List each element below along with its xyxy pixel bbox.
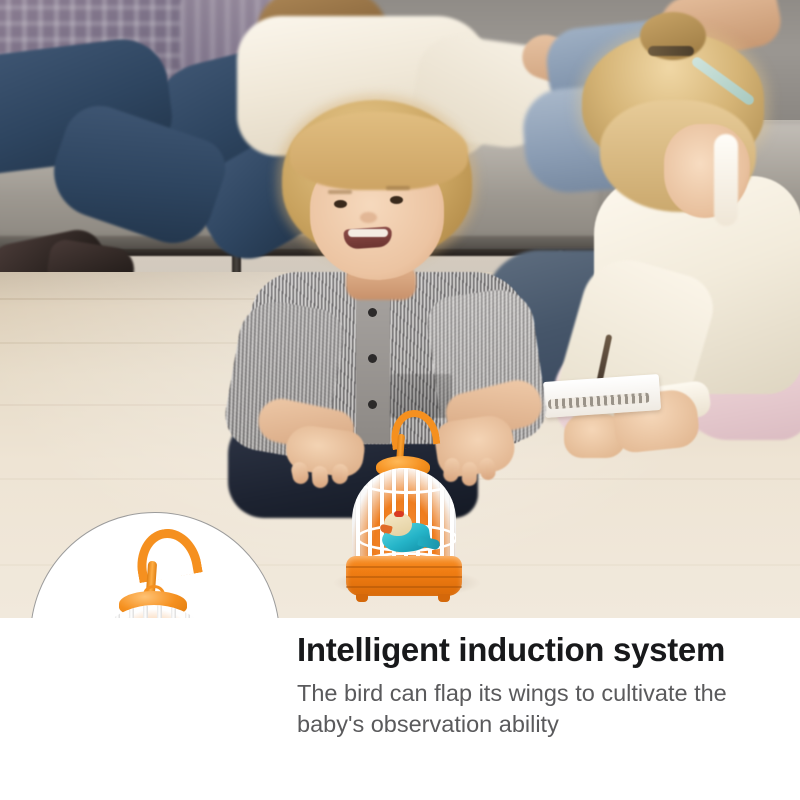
boy-teeth (348, 229, 388, 237)
callout-subtitle: The bird can flap its wings to cultivate… (297, 678, 767, 741)
boy-hair-fringe (290, 112, 468, 190)
product-marketing-banner: Intelligent induction system The bird ca… (0, 0, 800, 800)
bird-cage-toy-main (344, 408, 468, 600)
cage-hook-icon (129, 527, 191, 585)
boy-eyebrow (386, 186, 410, 190)
girl-hair-tie (648, 46, 694, 56)
boy-eye (334, 200, 347, 208)
cage-foot (356, 594, 368, 602)
boy-eyebrow (328, 190, 352, 194)
cage-foot (438, 594, 450, 602)
girl-drawing (536, 18, 800, 438)
cage-orange-base (346, 556, 462, 596)
cage-hook-icon (384, 408, 430, 454)
callout-headline: Intelligent induction system (297, 632, 783, 669)
shirt-button (368, 354, 377, 363)
boy-nose (360, 212, 377, 223)
girl-pearl-collar (714, 134, 738, 226)
shirt-button (368, 308, 377, 317)
toy-bird (378, 512, 432, 554)
boy-eye (390, 196, 403, 204)
boy-finger (311, 465, 328, 488)
